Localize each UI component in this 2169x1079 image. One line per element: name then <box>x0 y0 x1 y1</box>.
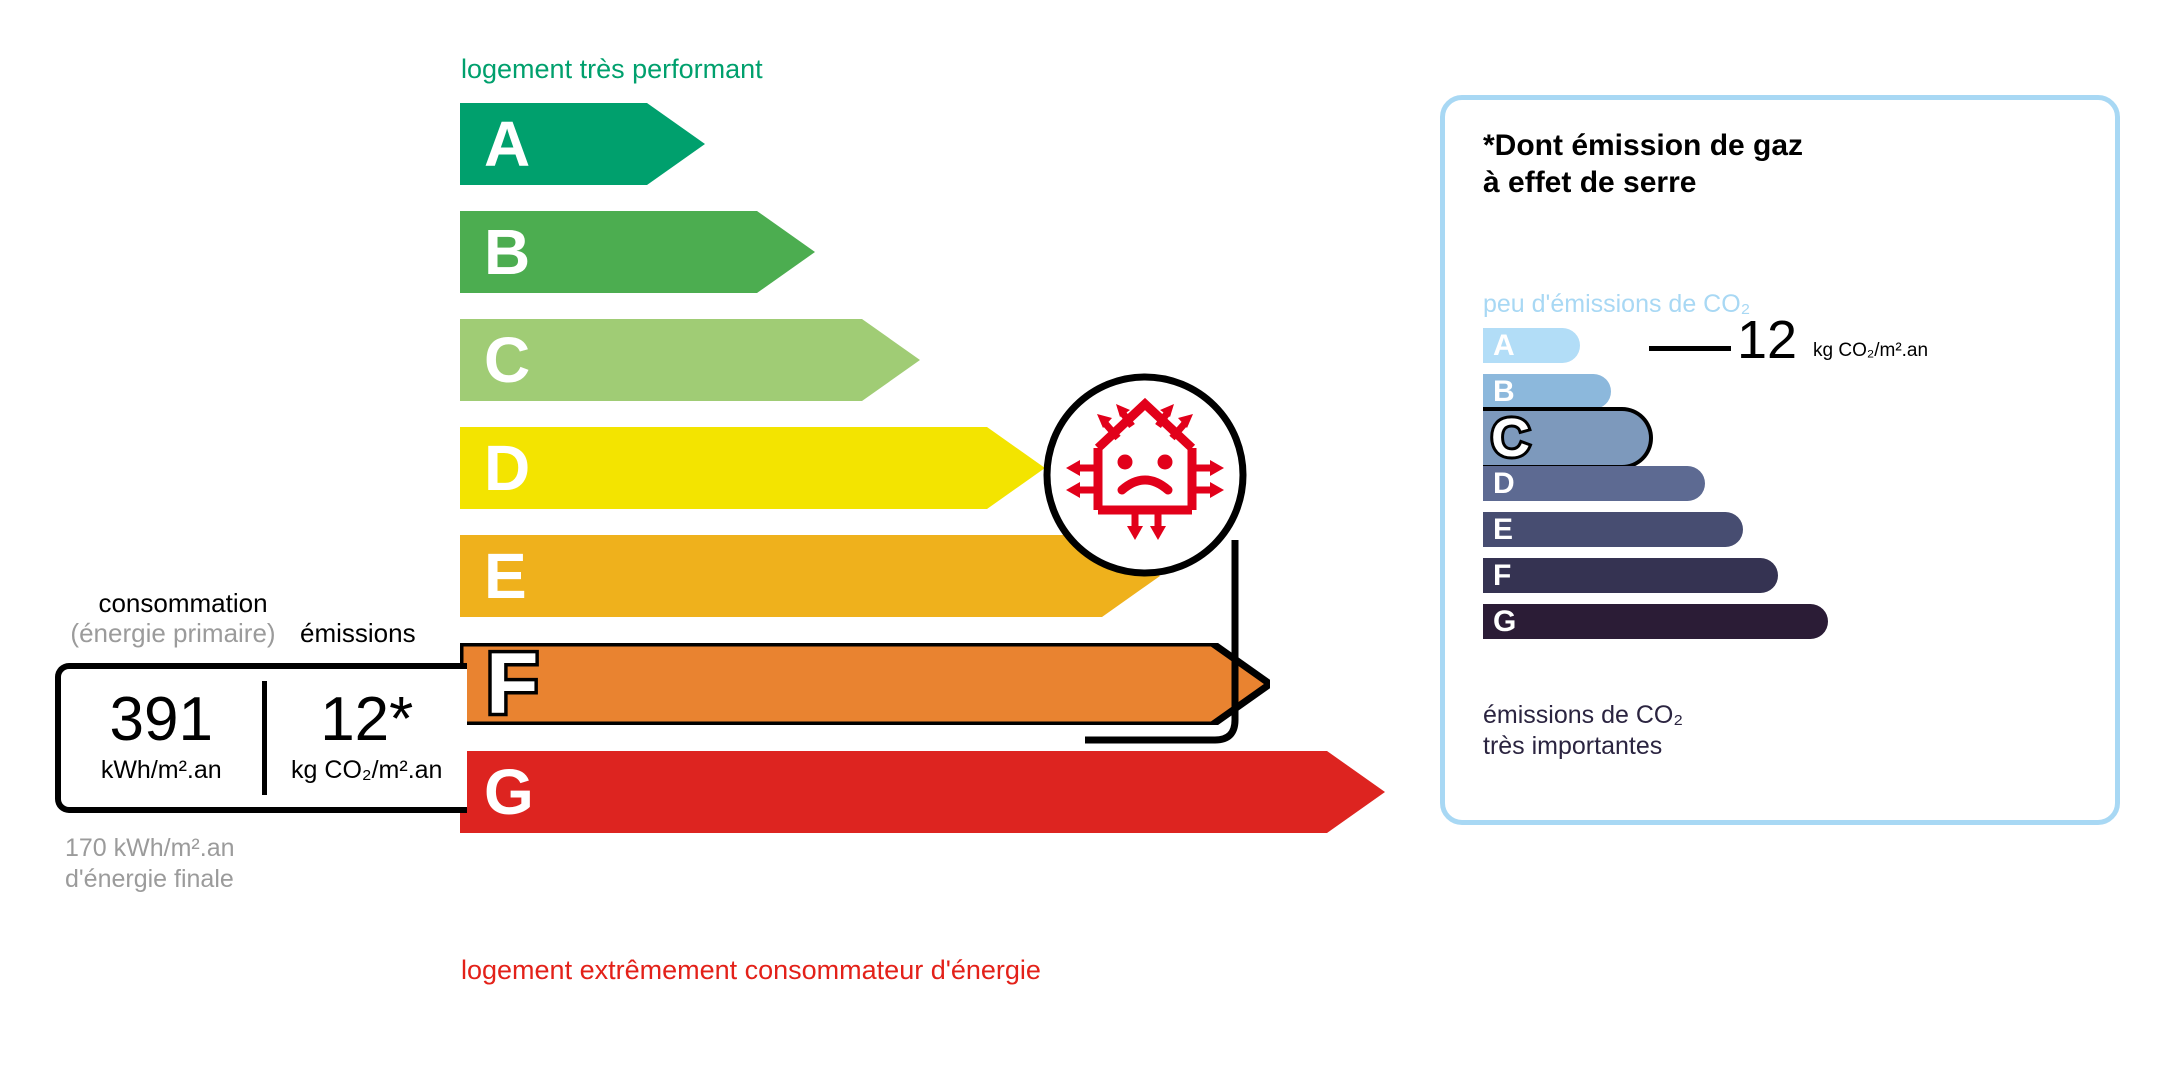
co2-value: 12 <box>1737 313 1797 367</box>
co2-bar-c: C <box>1483 407 1653 469</box>
energy-band-letter: A <box>484 112 530 176</box>
co2-bottom-caption: émissions de CO₂très importantes <box>1483 700 1683 761</box>
label-consommation: consommation <box>68 588 298 619</box>
co2-panel-title: *Dont émission de gazà effet de serre <box>1483 128 1803 201</box>
sad-house-icon <box>1040 370 1250 580</box>
energy-band-c: C <box>460 319 920 401</box>
energy-band-b: B <box>460 211 815 293</box>
label-emissions: émissions <box>300 618 416 649</box>
emissions-value: 12* <box>320 691 413 750</box>
co2-bar-g: G <box>1483 604 1828 639</box>
co2-bar-letter: D <box>1493 469 1515 499</box>
energy-band-a: A <box>460 103 705 185</box>
co2-bar-e: E <box>1483 512 1743 547</box>
co2-bar-b: B <box>1483 374 1611 409</box>
energy-band-letter: C <box>484 328 530 392</box>
value-box: 391 kWh/m².an 12* kg CO₂/m².an <box>55 663 467 813</box>
co2-bar-letter: A <box>1493 331 1515 361</box>
co2-leader-line <box>1649 346 1731 351</box>
co2-bar-letter: G <box>1493 607 1516 637</box>
co2-value-unit: kg CO₂/m².an <box>1813 340 1928 362</box>
primary-energy-cell: 391 kWh/m².an <box>61 669 262 807</box>
co2-bar-d: D <box>1483 466 1705 501</box>
scale-top-caption: logement très performant <box>461 54 763 85</box>
energy-band-d: D <box>460 427 1045 509</box>
energy-performance-scale: logement très performant ABCDEFG logemen… <box>0 0 1400 1079</box>
co2-bar-letter: B <box>1493 377 1515 407</box>
label-energie-primaire: (énergie primaire) <box>48 618 298 649</box>
co2-bar-f: F <box>1483 558 1778 593</box>
final-energy-note: 170 kWh/m².and'énergie finale <box>65 833 235 894</box>
co2-bar-letter: C <box>1491 411 1530 465</box>
co2-bar-letter: F <box>1493 561 1511 591</box>
energy-band-letter: G <box>484 760 534 824</box>
co2-bar-a: A <box>1483 328 1580 363</box>
energy-band-letter: E <box>484 544 527 608</box>
energy-band-letter: D <box>484 436 530 500</box>
emissions-unit: kg CO₂/m².an <box>291 756 442 785</box>
scale-bottom-caption: logement extrêmement consommateur d'éner… <box>461 955 1041 986</box>
primary-energy-value: 391 <box>110 691 213 750</box>
co2-emissions-panel: *Dont émission de gazà effet de serre pe… <box>1440 95 2120 825</box>
energy-band-letter: B <box>484 220 530 284</box>
emissions-cell: 12* kg CO₂/m².an <box>267 669 468 807</box>
primary-energy-unit: kWh/m².an <box>101 756 222 785</box>
co2-bar-letter: E <box>1493 515 1513 545</box>
band-shape <box>460 427 1045 509</box>
energy-band-letter: F <box>486 641 539 727</box>
co2-top-caption: peu d'émissions de CO₂ <box>1483 290 1750 319</box>
